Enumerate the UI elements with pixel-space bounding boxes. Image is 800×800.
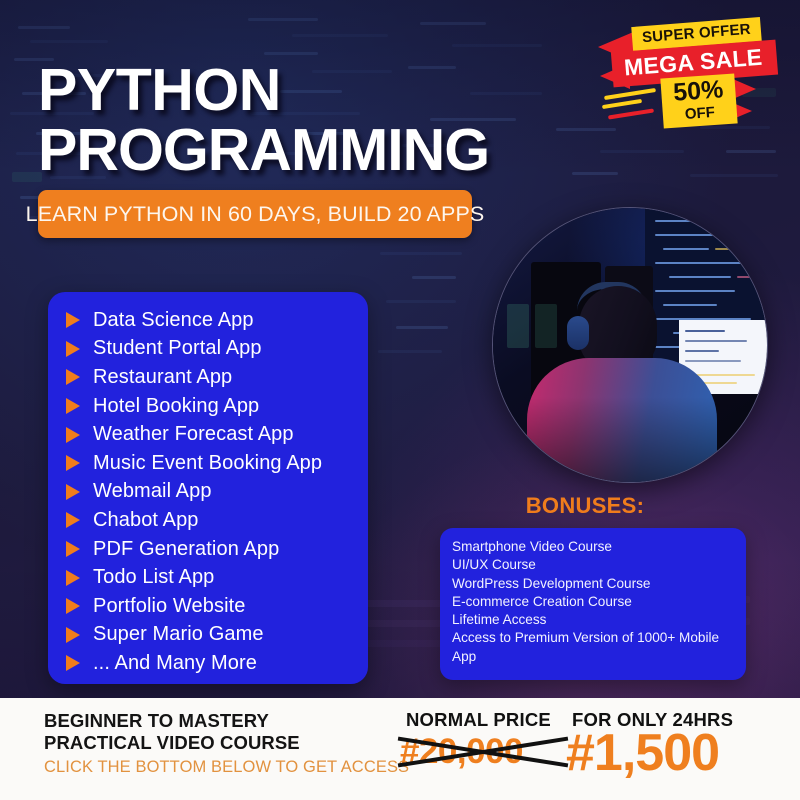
bonuses-panel: Smartphone Video Course UI/UX Course Wor… bbox=[440, 528, 746, 680]
list-item-label: Student Portal App bbox=[93, 337, 262, 360]
bonuses-list: Smartphone Video Course UI/UX Course Wor… bbox=[452, 538, 732, 666]
list-item: Data Science App bbox=[48, 306, 368, 335]
list-item: ... And Many More bbox=[48, 649, 368, 678]
list-item: Super Mario Game bbox=[48, 621, 368, 650]
arrow-right-icon bbox=[66, 512, 80, 528]
list-item: Lifetime Access bbox=[452, 611, 732, 629]
arrow-right-icon bbox=[66, 484, 80, 500]
list-item-label: Super Mario Game bbox=[93, 623, 264, 646]
list-item: Restaurant App bbox=[48, 363, 368, 392]
arrow-right-icon bbox=[66, 455, 80, 471]
list-item: WordPress Development Course bbox=[452, 575, 732, 593]
footer-bar: BEGINNER TO MASTERY PRACTICAL VIDEO COUR… bbox=[0, 698, 800, 800]
list-item-label: PDF Generation App bbox=[93, 538, 279, 561]
arrow-right-icon bbox=[66, 541, 80, 557]
list-item: E-commerce Creation Course bbox=[452, 593, 732, 611]
title-line-1: PYTHON bbox=[38, 57, 281, 123]
title-line-2: PROGRAMMING bbox=[38, 122, 678, 180]
list-item: Student Portal App bbox=[48, 335, 368, 364]
arrow-right-icon bbox=[66, 570, 80, 586]
cta-text[interactable]: CLICK THE BOTTOM BELOW TO GET ACCESS bbox=[44, 758, 409, 777]
list-item: Todo List App bbox=[48, 563, 368, 592]
list-item: Weather Forecast App bbox=[48, 420, 368, 449]
poster-root: PYTHON PROGRAMMING LEARN PYTHON IN 60 DA… bbox=[0, 0, 800, 800]
subtitle-text: LEARN PYTHON IN 60 DAYS, BUILD 20 APPS bbox=[26, 202, 485, 227]
sale-badge: SUPER OFFER MEGA SALE 50% OFF bbox=[598, 8, 798, 128]
arrow-right-icon bbox=[66, 369, 80, 385]
list-item-label: Chabot App bbox=[93, 509, 199, 532]
list-item-label: Weather Forecast App bbox=[93, 423, 294, 446]
list-item: Portfolio Website bbox=[48, 592, 368, 621]
list-item-label: Portfolio Website bbox=[93, 595, 246, 618]
list-item-label: Data Science App bbox=[93, 309, 254, 332]
person-body-shading bbox=[527, 358, 717, 483]
list-item-label: ... And Many More bbox=[93, 652, 257, 675]
discount-off-label: OFF bbox=[674, 104, 725, 122]
list-item: Webmail App bbox=[48, 478, 368, 507]
badge-accent-line bbox=[608, 108, 654, 119]
list-item: Hotel Booking App bbox=[48, 392, 368, 421]
arrow-right-icon bbox=[66, 427, 80, 443]
list-item-label: Music Event Booking App bbox=[93, 452, 322, 475]
arrow-right-icon bbox=[66, 598, 80, 614]
discount-percent: 50% bbox=[673, 77, 725, 105]
list-item: UI/UX Course bbox=[452, 556, 732, 574]
arrow-right-icon bbox=[66, 655, 80, 671]
list-item: Access to Premium Version of 1000+ Mobil… bbox=[452, 629, 732, 666]
list-item-label: Restaurant App bbox=[93, 366, 232, 389]
list-item-label: Webmail App bbox=[93, 480, 212, 503]
badge-accent-line bbox=[602, 99, 642, 109]
list-item-label: Todo List App bbox=[93, 566, 214, 589]
arrow-right-icon bbox=[66, 627, 80, 643]
subtitle-banner: LEARN PYTHON IN 60 DAYS, BUILD 20 APPS bbox=[38, 190, 472, 238]
headphone-earcup-icon bbox=[567, 316, 589, 350]
programmer-photo bbox=[492, 207, 768, 483]
app-list-panel: Data Science App Student Portal App Rest… bbox=[48, 292, 368, 684]
arrow-right-icon bbox=[66, 312, 80, 328]
course-title: BEGINNER TO MASTERY PRACTICAL VIDEO COUR… bbox=[44, 710, 374, 754]
bonuses-heading: BONUSES: bbox=[440, 493, 730, 519]
normal-price-label: NORMAL PRICE bbox=[406, 709, 551, 731]
arrow-right-icon bbox=[66, 341, 80, 357]
list-item-label: Hotel Booking App bbox=[93, 395, 259, 418]
list-item: Smartphone Video Course bbox=[452, 538, 732, 556]
arrow-right-icon bbox=[66, 398, 80, 414]
badge-accent-line bbox=[604, 88, 656, 100]
app-list: Data Science App Student Portal App Rest… bbox=[48, 292, 368, 678]
list-item: Music Event Booking App bbox=[48, 449, 368, 478]
list-item: Chabot App bbox=[48, 506, 368, 535]
discount-box: 50% OFF bbox=[660, 73, 737, 128]
page-title: PYTHON PROGRAMMING bbox=[38, 62, 678, 180]
offer-price: #1,500 bbox=[566, 725, 719, 781]
normal-price-struck: #20,000 bbox=[400, 731, 566, 773]
list-item: PDF Generation App bbox=[48, 535, 368, 564]
